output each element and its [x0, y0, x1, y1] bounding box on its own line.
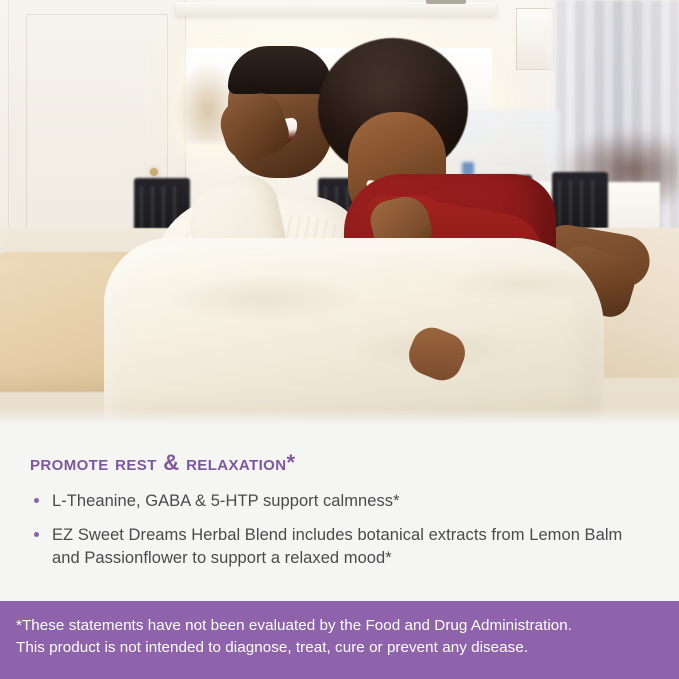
list-item-text: L-Theanine, GABA & 5-HTP support calmnes…	[52, 492, 400, 510]
disclaimer-band: *These statements have not been evaluate…	[0, 601, 679, 679]
photo-bottom-fade	[0, 408, 679, 424]
disclaimer-line-1: *These statements have not been evaluate…	[16, 615, 665, 637]
hero-lifestyle-photo	[0, 0, 679, 424]
disclaimer-line-2: This product is not intended to diagnose…	[16, 637, 665, 659]
benefits-list: L-Theanine, GABA & 5-HTP support calmnes…	[30, 490, 649, 569]
photo-scene	[0, 0, 679, 424]
product-feature-card: Promote Rest & Relaxation* L-Theanine, G…	[0, 0, 679, 679]
bullet-dot-icon	[34, 498, 39, 503]
mantel-shelf	[176, 2, 496, 16]
bullet-dot-icon	[34, 532, 39, 537]
page-title: Promote Rest & Relaxation*	[30, 452, 649, 474]
door-knob	[150, 168, 158, 176]
benefits-panel: Promote Rest & Relaxation* L-Theanine, G…	[0, 424, 679, 601]
shelf-object	[426, 0, 466, 4]
list-item: L-Theanine, GABA & 5-HTP support calmnes…	[30, 490, 649, 513]
list-item-text: EZ Sweet Dreams Herbal Blend includes bo…	[52, 526, 622, 567]
cream-blanket	[104, 238, 604, 424]
list-item: EZ Sweet Dreams Herbal Blend includes bo…	[30, 524, 649, 570]
